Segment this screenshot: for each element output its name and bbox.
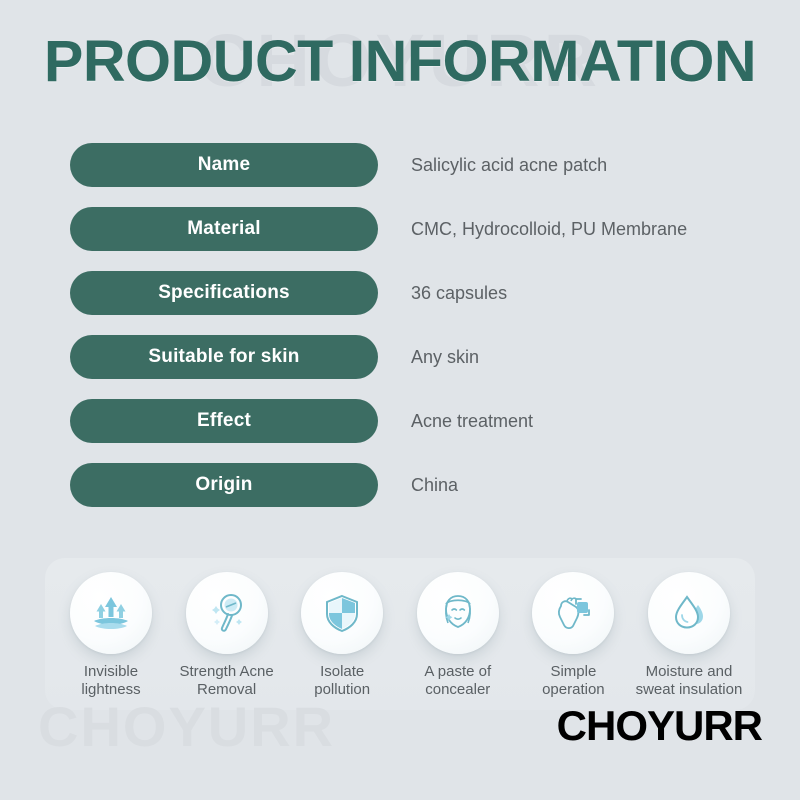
spec-label: Origin (195, 475, 252, 495)
feature-icon-circle (648, 572, 730, 654)
spec-value: 36 capsules (411, 271, 507, 315)
spec-value: CMC, Hydrocolloid, PU Membrane (411, 207, 687, 251)
spec-label-pill-origin: Origin (70, 463, 378, 507)
feature-item: Simple operation (519, 572, 627, 712)
spec-row: Effect Acne treatment (0, 399, 800, 443)
hand-patch-icon (550, 590, 596, 636)
feature-item: Moisture and sweat insulation (635, 572, 743, 712)
spec-label-pill-specifications: Specifications (70, 271, 378, 315)
spec-row: Name Salicylic acid acne patch (0, 143, 800, 187)
feature-label: Moisture and sweat insulation (636, 663, 743, 699)
spec-row: Suitable for skin Any skin (0, 335, 800, 379)
feature-label: Strength Acne Removal (179, 663, 273, 699)
brand-logo-text: CHOYURR (557, 704, 762, 748)
spec-label-pill-effect: Effect (70, 399, 378, 443)
spec-value: Salicylic acid acne patch (411, 143, 607, 187)
spec-label: Suitable for skin (148, 347, 299, 367)
spec-label: Specifications (158, 283, 290, 303)
spec-value: China (411, 463, 458, 507)
feature-label: Invisible lightness (81, 663, 140, 699)
shield-icon (320, 591, 364, 635)
spec-value: Any skin (411, 335, 479, 379)
feature-label: A paste of concealer (424, 663, 491, 699)
feature-icon-circle (70, 572, 152, 654)
spec-label: Effect (197, 411, 251, 431)
feature-item: Invisible lightness (57, 572, 165, 712)
spec-label-pill-name: Name (70, 143, 378, 187)
water-drop-icon (667, 591, 711, 635)
spec-label: Material (187, 219, 260, 239)
feature-item: Isolate pollution (288, 572, 396, 712)
feature-label: Simple operation (542, 663, 605, 699)
spec-label: Name (198, 155, 251, 175)
feature-item: Strength Acne Removal (173, 572, 281, 712)
features-row: Invisible lightness Strength Acne (45, 572, 755, 712)
spec-label-pill-suitable-for-skin: Suitable for skin (70, 335, 378, 379)
page-title: PRODUCT INFORMATION (0, 26, 800, 98)
spec-value: Acne treatment (411, 399, 533, 443)
feature-icon-circle (417, 572, 499, 654)
spec-row: Material CMC, Hydrocolloid, PU Membrane (0, 207, 800, 251)
hand-mirror-icon (204, 590, 250, 636)
spec-label-pill-material: Material (70, 207, 378, 251)
feature-item: A paste of concealer (404, 572, 512, 712)
specification-list: Name Salicylic acid acne patch Material … (0, 143, 800, 527)
face-icon (435, 590, 481, 636)
spec-row: Origin China (0, 463, 800, 507)
feature-icon-circle (532, 572, 614, 654)
feature-label: Isolate pollution (314, 663, 370, 699)
brand-logo: CHOYURR (557, 704, 762, 748)
product-information-infographic: CHOYURR PRODUCT INFORMATION Name Salicyl… (0, 0, 800, 800)
feature-icon-circle (186, 572, 268, 654)
breathable-arrows-icon (88, 590, 134, 636)
spec-row: Specifications 36 capsules (0, 271, 800, 315)
feature-icon-circle (301, 572, 383, 654)
